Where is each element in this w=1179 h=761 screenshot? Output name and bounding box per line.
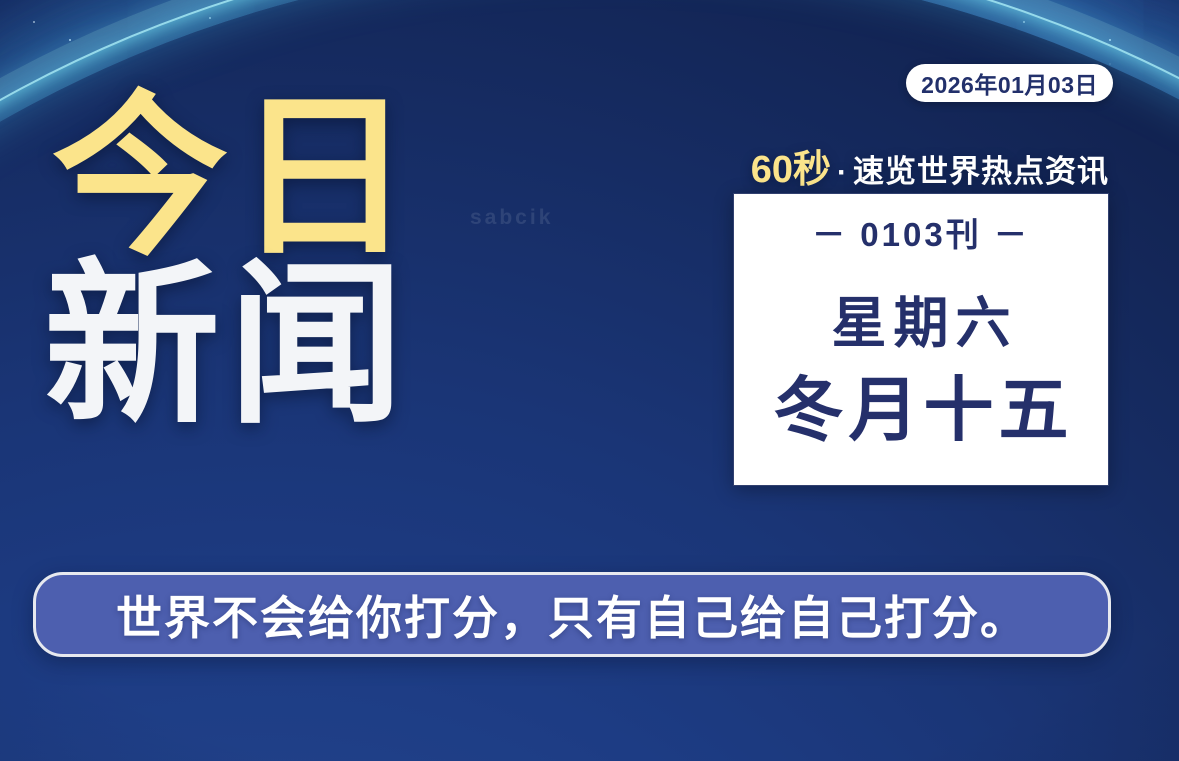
title-line-xinwen: 新闻 <box>44 266 420 428</box>
page-title: 今日 新闻 <box>52 98 420 428</box>
quote-banner: 世界不会给你打分，只有自己给自己打分。 <box>33 572 1111 657</box>
news-poster: sabcik 今日 新闻 2026年01月03日 60秒 · 速览世界热点资讯 … <box>0 0 1179 761</box>
title-line-jinri: 今日 <box>52 98 420 260</box>
background-watermark: sabcik <box>470 206 553 230</box>
tagline-seconds: 60秒 <box>751 138 831 193</box>
date-badge: 2026年01月03日 <box>906 64 1113 102</box>
poster-content: sabcik 今日 新闻 2026年01月03日 60秒 · 速览世界热点资讯 … <box>0 0 1179 761</box>
issue-number: － 0103刊 － <box>812 208 1030 256</box>
lunar-date-label: 冬月十五 <box>769 374 1074 448</box>
tagline-separator-icon: · <box>835 156 849 190</box>
quote-text: 世界不会给你打分，只有自己给自己打分。 <box>116 582 1028 648</box>
date-info-card: － 0103刊 － 星期六 冬月十五 <box>733 193 1109 486</box>
tagline-text: 速览世界热点资讯 <box>853 146 1109 191</box>
tagline: 60秒 · 速览世界热点资讯 <box>751 138 1109 193</box>
weekday-label: 星期六 <box>824 278 1017 358</box>
